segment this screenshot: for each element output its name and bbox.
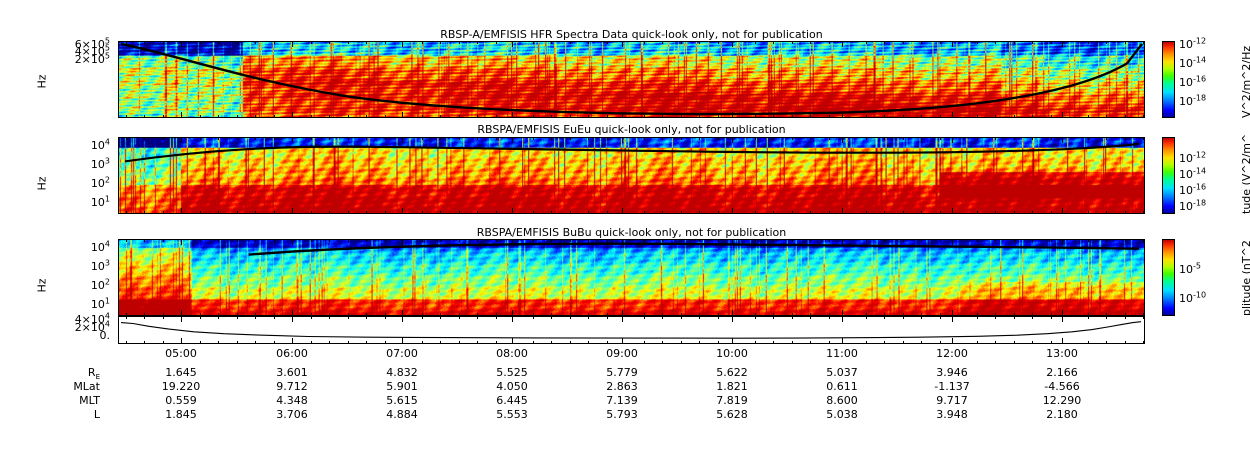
axis-tick xyxy=(607,115,608,118)
axis-tick xyxy=(644,239,645,242)
axis-tick xyxy=(402,316,403,322)
axis-tick xyxy=(952,316,953,322)
axis-tick xyxy=(385,41,386,44)
axis-tick xyxy=(440,115,441,118)
axis-tick xyxy=(551,341,552,344)
axis-tick xyxy=(163,41,164,44)
axis-tick xyxy=(200,316,201,319)
axis-tick xyxy=(866,211,867,214)
panel-hfr-ytick-2: 2×105 xyxy=(52,53,110,66)
axis-tick xyxy=(311,239,312,242)
panel-hfr-ylabel: Hz xyxy=(36,65,49,89)
axis-tick xyxy=(842,41,843,47)
axis-tick xyxy=(237,41,238,44)
axis-tick xyxy=(940,41,941,44)
ephemeris-value: 2.863 xyxy=(606,380,638,393)
ephemeris-value: -1.137 xyxy=(934,380,969,393)
ephemeris-value: 2.166 xyxy=(1046,366,1078,379)
axis-tick xyxy=(348,239,349,242)
axis-tick xyxy=(607,211,608,214)
panel-eueu-ytick-3: 101 xyxy=(52,196,110,209)
axis-tick xyxy=(459,316,460,319)
axis-tick xyxy=(366,211,367,214)
axis-tick xyxy=(1088,316,1089,319)
panel-fce-plot-area[interactable] xyxy=(118,316,1145,344)
axis-tick xyxy=(1106,41,1107,44)
ephemeris-value: 0.611 xyxy=(826,380,858,393)
ephemeris-value: 3.948 xyxy=(936,408,968,421)
axis-tick xyxy=(662,115,663,118)
axis-tick xyxy=(311,211,312,214)
axis-tick xyxy=(477,211,478,214)
panel-eueu-cb-tick-0: 10-12 xyxy=(1179,152,1206,165)
axis-tick xyxy=(292,338,293,344)
axis-tick xyxy=(884,211,885,214)
axis-tick xyxy=(218,41,219,44)
axis-tick xyxy=(607,316,608,319)
axis-tick xyxy=(903,211,904,214)
axis-tick xyxy=(810,239,811,242)
axis-tick xyxy=(144,316,145,319)
axis-tick xyxy=(1088,41,1089,44)
axis-tick xyxy=(1014,239,1015,242)
axis-tick xyxy=(477,239,478,242)
axis-tick xyxy=(255,41,256,44)
panel-bubu-colorbar-label: plitude (nT^2 xyxy=(1240,240,1250,316)
axis-tick xyxy=(732,112,733,118)
axis-tick xyxy=(884,316,885,319)
axis-tick xyxy=(1088,239,1089,242)
axis-tick xyxy=(570,341,571,344)
ephemeris-value: 4.832 xyxy=(386,366,418,379)
axis-tick xyxy=(533,137,534,140)
axis-tick xyxy=(1014,115,1015,118)
axis-tick xyxy=(366,239,367,242)
axis-tick xyxy=(940,211,941,214)
axis-tick xyxy=(366,41,367,44)
panel-hfr-colorbar[interactable] xyxy=(1162,41,1175,118)
axis-tick xyxy=(995,211,996,214)
axis-tick xyxy=(718,137,719,140)
panel-bubu-colorbar[interactable] xyxy=(1162,239,1175,316)
panel-eueu-ytick-2: 102 xyxy=(52,177,110,190)
axis-tick xyxy=(402,41,403,47)
axis-tick xyxy=(921,341,922,344)
ephemeris-row-label-2: MLT xyxy=(30,394,100,407)
axis-tick xyxy=(385,316,386,319)
axis-tick xyxy=(181,41,182,47)
axis-tick xyxy=(842,137,843,143)
axis-tick xyxy=(718,316,719,319)
x-tick-label-2: 07:00 xyxy=(386,347,418,360)
axis-tick xyxy=(329,341,330,344)
ephemeris-value: 1.845 xyxy=(165,408,197,421)
ephemeris-value: 4.884 xyxy=(386,408,418,421)
x-tick-label-7: 12:00 xyxy=(936,347,968,360)
axis-tick xyxy=(921,316,922,319)
axis-tick xyxy=(570,115,571,118)
axis-tick xyxy=(977,211,978,214)
axis-tick xyxy=(459,211,460,214)
axis-tick xyxy=(588,115,589,118)
axis-tick xyxy=(810,137,811,140)
ephemeris-value: 5.622 xyxy=(716,366,748,379)
axis-tick xyxy=(607,137,608,140)
axis-tick xyxy=(681,137,682,140)
axis-tick xyxy=(681,316,682,319)
axis-tick xyxy=(588,137,589,140)
axis-tick xyxy=(348,137,349,140)
axis-tick xyxy=(755,316,756,319)
panel-hfr-cb-tick-2: 10-16 xyxy=(1179,76,1206,89)
ephemeris-value: 7.139 xyxy=(606,394,638,407)
axis-tick xyxy=(274,341,275,344)
ephemeris-value: 5.037 xyxy=(826,366,858,379)
axis-tick xyxy=(237,316,238,319)
axis-tick xyxy=(921,41,922,44)
axis-tick xyxy=(1062,338,1063,344)
axis-tick xyxy=(1106,341,1107,344)
axis-tick xyxy=(1032,41,1033,44)
axis-tick xyxy=(385,341,386,344)
axis-tick xyxy=(1051,137,1052,140)
axis-tick xyxy=(329,211,330,214)
axis-tick xyxy=(588,316,589,319)
axis-tick xyxy=(218,137,219,140)
axis-tick xyxy=(940,115,941,118)
ephemeris-value: 5.038 xyxy=(826,408,858,421)
axis-tick xyxy=(496,137,497,140)
axis-tick xyxy=(644,316,645,319)
axis-tick xyxy=(237,341,238,344)
axis-tick xyxy=(459,41,460,44)
axis-tick xyxy=(903,115,904,118)
axis-tick xyxy=(810,115,811,118)
ephemeris-value: 5.779 xyxy=(606,366,638,379)
ephemeris-value: 5.553 xyxy=(496,408,528,421)
axis-tick xyxy=(699,115,700,118)
axis-tick xyxy=(699,316,700,319)
axis-tick xyxy=(292,239,293,245)
axis-tick xyxy=(588,341,589,344)
axis-tick xyxy=(533,41,534,44)
axis-tick xyxy=(200,211,201,214)
axis-tick xyxy=(1032,137,1033,140)
axis-tick xyxy=(662,316,663,319)
axis-tick xyxy=(218,341,219,344)
axis-tick xyxy=(921,115,922,118)
axis-tick xyxy=(477,41,478,44)
axis-tick xyxy=(477,316,478,319)
axis-tick xyxy=(144,239,145,242)
axis-tick xyxy=(512,112,513,118)
axis-tick xyxy=(255,137,256,140)
axis-tick xyxy=(773,115,774,118)
axis-tick xyxy=(792,239,793,242)
ephemeris-value: 6.445 xyxy=(496,394,528,407)
axis-tick xyxy=(866,316,867,319)
ephemeris-value: 9.717 xyxy=(936,394,968,407)
axis-tick xyxy=(422,115,423,118)
axis-tick xyxy=(903,137,904,140)
axis-tick xyxy=(385,137,386,140)
panel-eueu-colorbar[interactable] xyxy=(1162,137,1175,214)
axis-tick xyxy=(255,341,256,344)
axis-tick xyxy=(977,341,978,344)
panel-bubu-cb-tick-1: 10-10 xyxy=(1179,292,1206,305)
axis-tick xyxy=(496,115,497,118)
axis-tick xyxy=(1125,341,1126,344)
axis-tick xyxy=(348,341,349,344)
axis-tick xyxy=(292,316,293,322)
axis-tick xyxy=(1125,41,1126,44)
axis-tick xyxy=(622,208,623,214)
ephemeris-value: 4.348 xyxy=(276,394,308,407)
axis-tick xyxy=(952,208,953,214)
axis-tick xyxy=(440,41,441,44)
axis-tick xyxy=(866,137,867,140)
axis-tick xyxy=(940,239,941,242)
axis-tick xyxy=(1106,211,1107,214)
axis-tick xyxy=(622,316,623,322)
axis-tick xyxy=(459,137,460,140)
panel-bubu-ytick-2: 102 xyxy=(52,279,110,292)
axis-tick xyxy=(496,211,497,214)
axis-tick xyxy=(810,41,811,44)
panel-fce-line xyxy=(119,317,1144,343)
axis-tick xyxy=(237,239,238,242)
axis-tick xyxy=(311,137,312,140)
axis-tick xyxy=(842,316,843,322)
axis-tick xyxy=(810,316,811,319)
panel-eueu-cb-tick-2: 10-16 xyxy=(1179,184,1206,197)
axis-tick xyxy=(1106,115,1107,118)
axis-tick xyxy=(385,115,386,118)
ephemeris-value: -4.566 xyxy=(1044,380,1079,393)
axis-tick xyxy=(1125,239,1126,242)
axis-tick xyxy=(699,41,700,44)
axis-tick xyxy=(512,41,513,47)
axis-tick xyxy=(662,239,663,242)
axis-tick xyxy=(842,112,843,118)
axis-tick xyxy=(718,239,719,242)
axis-tick xyxy=(348,211,349,214)
axis-tick xyxy=(533,316,534,319)
panel-bubu-ylabel: Hz xyxy=(36,269,49,293)
axis-tick xyxy=(1088,211,1089,214)
ephemeris-value: 1.821 xyxy=(716,380,748,393)
axis-tick xyxy=(732,137,733,143)
ephemeris-row-label-3: L xyxy=(30,408,100,421)
axis-tick xyxy=(866,41,867,44)
axis-tick xyxy=(1032,115,1033,118)
axis-tick xyxy=(1014,41,1015,44)
axis-tick xyxy=(921,239,922,242)
axis-tick xyxy=(144,137,145,140)
axis-tick xyxy=(292,41,293,47)
panel-fce-ytick-2: 0. xyxy=(52,329,110,342)
axis-tick xyxy=(903,239,904,242)
axis-tick xyxy=(792,137,793,140)
axis-tick xyxy=(977,137,978,140)
axis-tick xyxy=(366,316,367,319)
x-tick-label-1: 06:00 xyxy=(276,347,308,360)
axis-tick xyxy=(385,239,386,242)
axis-tick xyxy=(348,41,349,44)
axis-tick xyxy=(588,211,589,214)
axis-tick xyxy=(477,115,478,118)
axis-tick xyxy=(292,137,293,143)
axis-tick xyxy=(551,316,552,319)
axis-tick xyxy=(1014,341,1015,344)
axis-tick xyxy=(681,41,682,44)
axis-tick xyxy=(144,41,145,44)
axis-tick xyxy=(829,239,830,242)
axis-tick xyxy=(866,115,867,118)
axis-tick xyxy=(551,137,552,140)
x-tick-label-0: 05:00 xyxy=(165,347,197,360)
axis-tick xyxy=(274,137,275,140)
axis-tick xyxy=(329,239,330,242)
ephemeris-value: 12.290 xyxy=(1043,394,1082,407)
axis-tick xyxy=(884,41,885,44)
axis-tick xyxy=(237,211,238,214)
axis-tick xyxy=(1014,137,1015,140)
panel-eueu-title: RBSPA/EMFISIS EuEu quick-look only, not … xyxy=(118,123,1145,136)
axis-tick xyxy=(440,137,441,140)
axis-tick xyxy=(126,239,127,242)
axis-tick xyxy=(773,137,774,140)
axis-tick xyxy=(921,211,922,214)
ephemeris-value: 5.525 xyxy=(496,366,528,379)
ephemeris-value: 3.946 xyxy=(936,366,968,379)
axis-tick xyxy=(126,137,127,140)
panel-eueu-cb-tick-3: 10-18 xyxy=(1179,200,1206,213)
axis-tick xyxy=(884,239,885,242)
axis-tick xyxy=(792,211,793,214)
axis-tick xyxy=(496,41,497,44)
axis-tick xyxy=(440,239,441,242)
axis-tick xyxy=(1032,316,1033,319)
axis-tick xyxy=(496,316,497,319)
axis-tick xyxy=(773,211,774,214)
axis-tick xyxy=(533,341,534,344)
axis-tick xyxy=(588,239,589,242)
panel-hfr-colorbar-label: V^2/m^2/Hz xyxy=(1240,46,1250,118)
axis-tick xyxy=(292,112,293,118)
axis-tick xyxy=(255,316,256,319)
axis-tick xyxy=(1125,316,1126,319)
axis-tick xyxy=(163,239,164,242)
axis-tick xyxy=(718,341,719,344)
axis-tick xyxy=(1106,239,1107,242)
axis-tick xyxy=(1143,316,1144,319)
axis-tick xyxy=(842,239,843,245)
axis-tick xyxy=(1088,341,1089,344)
axis-tick xyxy=(1106,316,1107,319)
axis-tick xyxy=(681,115,682,118)
axis-tick xyxy=(551,211,552,214)
x-tick-label-8: 13:00 xyxy=(1046,347,1078,360)
axis-tick xyxy=(440,316,441,319)
axis-tick xyxy=(1051,41,1052,44)
axis-tick xyxy=(512,239,513,245)
axis-tick xyxy=(792,41,793,44)
panel-bubu-cb-tick-0: 10-5 xyxy=(1179,263,1201,276)
axis-tick xyxy=(1062,137,1063,143)
axis-tick xyxy=(126,341,127,344)
axis-tick xyxy=(1088,115,1089,118)
axis-tick xyxy=(181,239,182,245)
axis-tick xyxy=(422,341,423,344)
axis-tick xyxy=(1062,208,1063,214)
axis-tick xyxy=(402,208,403,214)
panel-eueu-ylabel: Hz xyxy=(36,167,49,191)
axis-tick xyxy=(622,112,623,118)
axis-tick xyxy=(1125,137,1126,140)
axis-tick xyxy=(1106,137,1107,140)
ephemeris-value: 5.901 xyxy=(386,380,418,393)
axis-tick xyxy=(126,41,127,44)
axis-tick xyxy=(1143,211,1144,214)
axis-tick xyxy=(995,316,996,319)
panel-bubu-title: RBSPA/EMFISIS BuBu quick-look only, not … xyxy=(118,226,1145,239)
axis-tick xyxy=(699,239,700,242)
axis-tick xyxy=(126,211,127,214)
panel-eueu-colorbar-label: tude (V^2/m^ xyxy=(1240,134,1250,214)
axis-tick xyxy=(1062,239,1063,245)
axis-tick xyxy=(952,239,953,245)
axis-tick xyxy=(644,137,645,140)
axis-tick xyxy=(440,341,441,344)
axis-tick xyxy=(144,341,145,344)
axis-tick xyxy=(551,41,552,44)
axis-tick xyxy=(903,41,904,44)
axis-tick xyxy=(732,208,733,214)
axis-tick xyxy=(810,211,811,214)
axis-tick xyxy=(607,239,608,242)
axis-tick xyxy=(422,137,423,140)
axis-tick xyxy=(681,341,682,344)
axis-tick xyxy=(533,211,534,214)
ephemeris-value: 9.712 xyxy=(276,380,308,393)
axis-tick xyxy=(842,338,843,344)
axis-tick xyxy=(459,239,460,242)
panel-hfr-plot-area[interactable] xyxy=(118,41,1145,118)
axis-tick xyxy=(163,211,164,214)
axis-tick xyxy=(622,239,623,245)
axis-tick xyxy=(348,316,349,319)
axis-tick xyxy=(163,341,164,344)
panel-eueu-cb-tick-1: 10-14 xyxy=(1179,168,1206,181)
axis-tick xyxy=(866,239,867,242)
panel-eueu-plot-area[interactable] xyxy=(118,137,1145,214)
axis-tick xyxy=(755,137,756,140)
panel-bubu-plot-area[interactable] xyxy=(118,239,1145,316)
axis-tick xyxy=(884,341,885,344)
axis-tick xyxy=(440,211,441,214)
axis-tick xyxy=(311,115,312,118)
axis-tick xyxy=(607,341,608,344)
axis-tick xyxy=(181,137,182,143)
panel-eueu-overlay-curve xyxy=(119,138,1144,213)
axis-tick xyxy=(126,115,127,118)
axis-tick xyxy=(755,115,756,118)
axis-tick xyxy=(732,239,733,245)
axis-tick xyxy=(218,211,219,214)
axis-tick xyxy=(866,341,867,344)
axis-tick xyxy=(1062,112,1063,118)
